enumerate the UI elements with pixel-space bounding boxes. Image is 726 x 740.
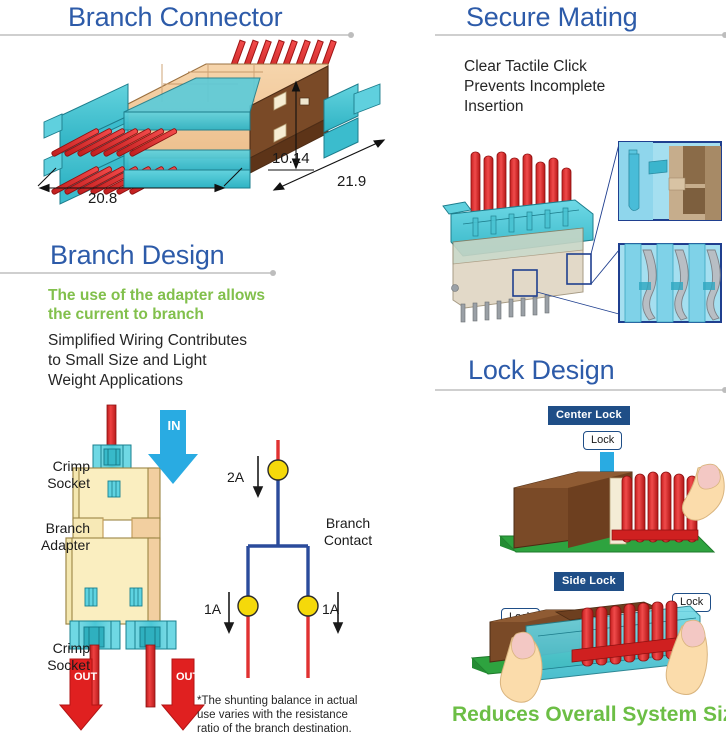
current-label-branch-right: 1A [322, 601, 339, 617]
branch-contact-schematic [225, 440, 375, 685]
label-crimp-socket-top: Crimp Socket [20, 458, 90, 492]
section-title-branch-connector: Branch Connector [68, 2, 282, 33]
branch-connector-illustration [28, 38, 420, 228]
lock-design-tagline: Reduces Overall System Size [452, 703, 726, 727]
divider-branch-connector [0, 34, 352, 36]
section-title-secure-mating: Secure Mating [466, 2, 638, 33]
dimension-height-label: 10.14 [272, 150, 310, 167]
label-branch-adapter: Branch Adapter [10, 520, 90, 554]
branch-design-subtext: Simplified Wiring Contributes to Small S… [48, 331, 247, 391]
infographic-page: Branch Connector [0, 0, 726, 740]
current-label-input: 2A [227, 469, 244, 485]
label-crimp-socket-bottom: Crimp Socket [14, 640, 90, 674]
divider-lock-design [435, 389, 726, 391]
secure-mating-subtext: Clear Tactile Click Prevents Incomplete … [464, 57, 605, 117]
section-title-branch-design: Branch Design [50, 240, 225, 271]
center-lock-illustration [492, 460, 726, 560]
callout-lock-center: Lock [583, 431, 622, 450]
current-label-branch-left: 1A [204, 601, 221, 617]
in-arrow-label: IN [167, 419, 181, 432]
badge-center-lock: Center Lock [548, 406, 630, 425]
divider-branch-design [0, 272, 274, 274]
section-title-lock-design: Lock Design [468, 355, 614, 386]
branch-design-headline: The use of the adapter allows the curren… [48, 286, 265, 324]
dimension-depth-label: 21.9 [337, 173, 366, 190]
secure-mating-illustration [443, 132, 723, 322]
out-arrow-label-right: OUT [176, 672, 188, 683]
label-branch-contact: Branch Contact [306, 515, 390, 549]
branch-design-footnote: *The shunting balance in actual use vari… [197, 694, 357, 736]
divider-secure-mating [435, 34, 726, 36]
dimension-width-label: 20.8 [88, 190, 117, 207]
side-lock-illustration [460, 588, 726, 700]
